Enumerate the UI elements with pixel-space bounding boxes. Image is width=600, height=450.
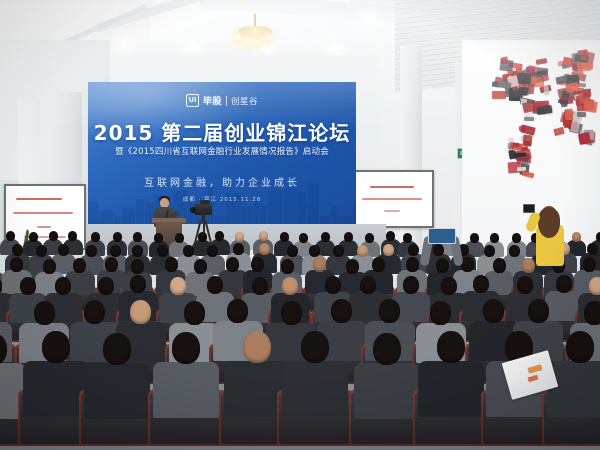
skyline-building [99,210,113,224]
left-screen-line-3 [37,226,51,228]
audience-member-head [165,257,178,272]
audience-member-head [483,299,504,323]
audience-member-head [321,232,330,242]
audience-member-head [386,231,395,241]
audience-member-head [227,299,248,323]
attendee-raising-phone [428,228,456,244]
audience-member-head [309,245,320,257]
collage-photo-piece [517,73,532,85]
audience-member-head [333,245,344,257]
audience-member-head [403,233,412,243]
audience-member-torso [418,361,484,417]
collage-photo-piece [522,171,535,179]
chandelier-bulb-icon [245,36,251,46]
skyline-building [307,183,319,224]
collage-photo-piece [583,89,592,98]
audience-member-head [84,300,105,324]
right-screen-surface [354,172,432,226]
audience-member-head [20,277,36,295]
downlight-icon [364,16,373,22]
skyline-building [114,216,121,224]
skyline-building [88,201,98,224]
audience-member-head [259,243,270,255]
audience-member-head [437,331,465,363]
audience-member-head [91,232,100,242]
audience-member-head [34,301,55,325]
chandelier-bulb-icon [265,33,271,43]
audience-member-head [73,258,86,273]
logo-mark-icon: UI [186,94,199,107]
chandelier-bulb-icon [235,32,241,42]
banner-tagline: 互联网金融，助力企业成长 [88,174,356,189]
left-screen-line-1 [16,198,62,200]
audience-member-head [408,244,419,256]
audience-member-head [207,245,218,257]
right-screen-line-2 [362,198,422,200]
audience-member-head [301,331,329,363]
audience-member-head [55,277,71,295]
audience-member-head [215,231,224,241]
downlight-icon [330,46,339,52]
stage-backdrop-banner: UI 毕股 创星谷 2015 第二届创业锦江论坛 暨《2015四川省互联网金融行… [88,82,356,224]
audience-member-head [556,275,572,293]
audience-member-head [157,245,168,257]
audience-member-head [6,231,15,241]
audience-member-head [12,244,23,256]
audience-member-head [299,233,308,243]
skyline-building [338,216,352,224]
audience-member-head [10,257,23,272]
audience-member-head [49,231,58,241]
audience-member-head [281,259,294,274]
audience-member-head [251,257,264,272]
logo-separator [226,96,227,106]
ceiling-beam-b [63,4,147,45]
chandelier [232,14,278,48]
audience-member-head [512,233,521,243]
audience-member-head [281,301,302,325]
audience-member-head [584,301,600,325]
downlight-icon [188,44,197,50]
audience-member-head [433,244,444,256]
skyline-building [122,208,135,224]
audience-member-head [493,258,506,273]
downlight-icon [120,40,127,46]
audience-member-head [280,232,289,242]
right-screen-line-1 [370,186,414,188]
audience-member-head [172,332,200,364]
collage-photo-piece [583,100,598,113]
skyline-building [320,216,330,224]
audience-member-head [105,257,118,272]
collage-photo-piece [522,135,532,147]
audience-member-head [589,277,600,295]
audience-member-head [130,300,151,324]
audience-member-head [313,257,326,272]
chandelier-bulb-icon [255,37,261,47]
conference-hall-photo: UI 毕股 创星谷 2015 第二届创业锦江论坛 暨《2015四川省互联网金融行… [0,0,600,450]
audience-member-torso [354,363,420,419]
audience-member-head [430,301,451,325]
audience-member-head [517,276,533,294]
skyline-building [242,207,253,224]
skyline-building [353,204,356,224]
audience-member-head [113,232,122,242]
camera-lens-icon [190,207,196,213]
audience-member-head [365,233,374,243]
audience-member-head [175,233,184,243]
audience-member-torso [547,361,600,417]
smartphone-icon [523,204,535,213]
audience-member-head [522,258,535,273]
audience-member-head [441,277,457,295]
collage-photo-piece [500,56,508,64]
audience-member-head [470,233,479,243]
collage-photo-piece [553,127,564,136]
audience-member-head [103,333,131,365]
audience-member-head [566,331,594,363]
audience-member-torso [153,362,219,418]
skyline-building [331,206,337,224]
audience-member-head [29,232,38,242]
collage-photo-piece [520,124,536,135]
audience-member-head [383,244,394,256]
audience-member-head [461,257,474,272]
audience-member-head [207,276,223,294]
logo-text: 毕股 [203,94,222,107]
banner-meta: 成都 · 锦江 2015.11.28 [88,195,356,203]
audience-member-head [287,245,298,257]
audience-member-head [587,243,598,255]
audience-member-head [331,299,352,323]
right-projection-screen [352,170,434,228]
collage-photo-piece [577,112,586,117]
audience-member-head [198,232,207,242]
audience-member-head [98,277,114,295]
audience-member-head [194,259,207,274]
audience-member-head [243,331,271,363]
banner-title: 2015 第二届创业锦江论坛 [88,117,356,146]
audience-member-head [528,299,549,323]
collage-photo-piece [577,62,591,71]
audience-member-head [436,258,449,273]
left-screen-line-2 [13,212,73,214]
audience-member-head [86,245,97,257]
audience-member-head [252,277,268,295]
audience-member-head [596,232,600,242]
collage-photo-piece [492,91,506,99]
audience-member-head [233,243,244,255]
audience-member-head [235,232,244,242]
audience-member-head [344,232,353,242]
audience-member-head [36,245,47,257]
audience-member-head [372,257,385,272]
audience-member-head [132,245,143,257]
audience-member-head [170,277,186,295]
audience-member-head [406,257,419,272]
audience-member-head [259,231,268,241]
right-screen-line-3 [384,210,400,212]
banner-subtitle: 暨《2015四川省互联网金融行业发展情况报告》启动会 [88,145,356,157]
audience-member-head [282,277,298,295]
collage-photo-piece [578,132,591,145]
audience-member-head [572,232,581,242]
collage-photo-piece [524,117,534,121]
audience-member-torso [282,361,348,417]
audience-member-head [583,257,596,272]
collage-photo-piece [498,81,512,89]
audience-member-head [184,301,205,325]
audience-member-head [58,244,69,256]
audience-member-head [490,233,499,243]
audience-member-head [379,299,400,323]
audience-member-head [373,333,401,365]
audience-member-head [484,245,495,257]
audience-member-head [42,331,70,363]
collage-photo-piece [536,58,548,65]
skyline-building [215,216,225,224]
audience-member-head [403,276,419,294]
woman-in-yellow-hair [538,208,560,238]
collage-photo-piece [509,90,522,98]
skyline-building [260,206,267,224]
audience-member-torso [84,363,150,419]
banner-logo: UI 毕股 创星谷 [186,94,258,107]
collage-photo-piece [561,99,568,108]
logo-text-secondary: 创星谷 [231,95,258,107]
audience-member-head [360,276,376,294]
audience-member-head [131,259,144,274]
collage-photo-piece [537,67,549,75]
audience-member-head [130,275,146,293]
audience-member-head [509,245,520,257]
collage-photo-piece [517,167,526,172]
